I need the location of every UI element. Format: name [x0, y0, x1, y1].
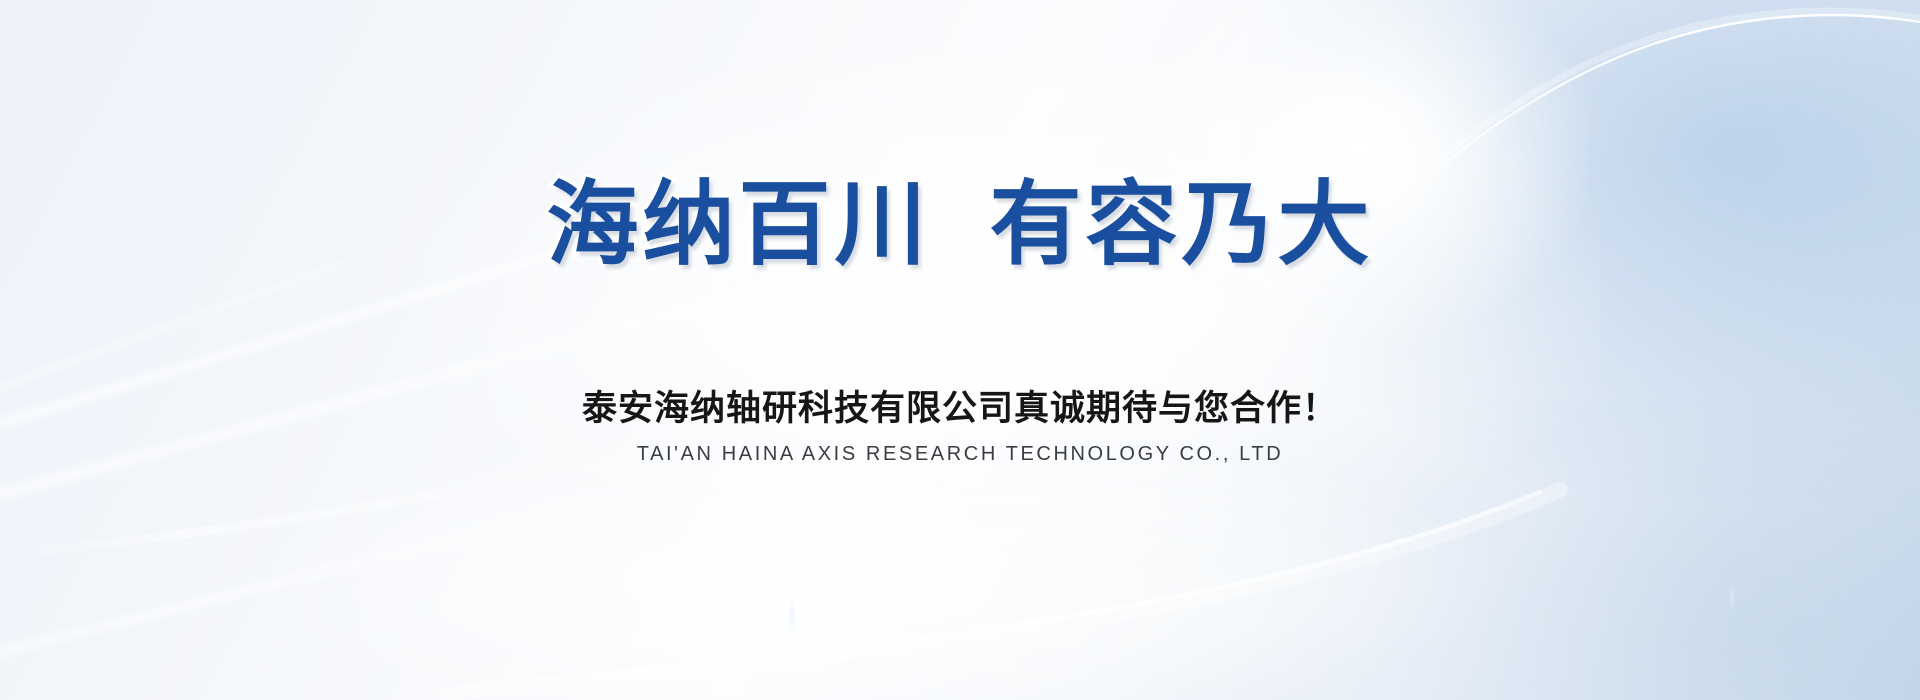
banner-content: 海纳百川 有容乃大 泰安海纳轴研科技有限公司真诚期待与您合作！ TAI'AN H…	[0, 0, 1920, 700]
banner-headline: 海纳百川 有容乃大	[0, 168, 1920, 283]
banner-subtitle-chinese: 泰安海纳轴研科技有限公司真诚期待与您合作！	[0, 380, 1920, 431]
hero-banner: 海纳百川 有容乃大 泰安海纳轴研科技有限公司真诚期待与您合作！ TAI'AN H…	[0, 0, 1920, 700]
banner-subtitle-english: TAI'AN HAINA AXIS RESEARCH TECHNOLOGY CO…	[0, 443, 1920, 466]
